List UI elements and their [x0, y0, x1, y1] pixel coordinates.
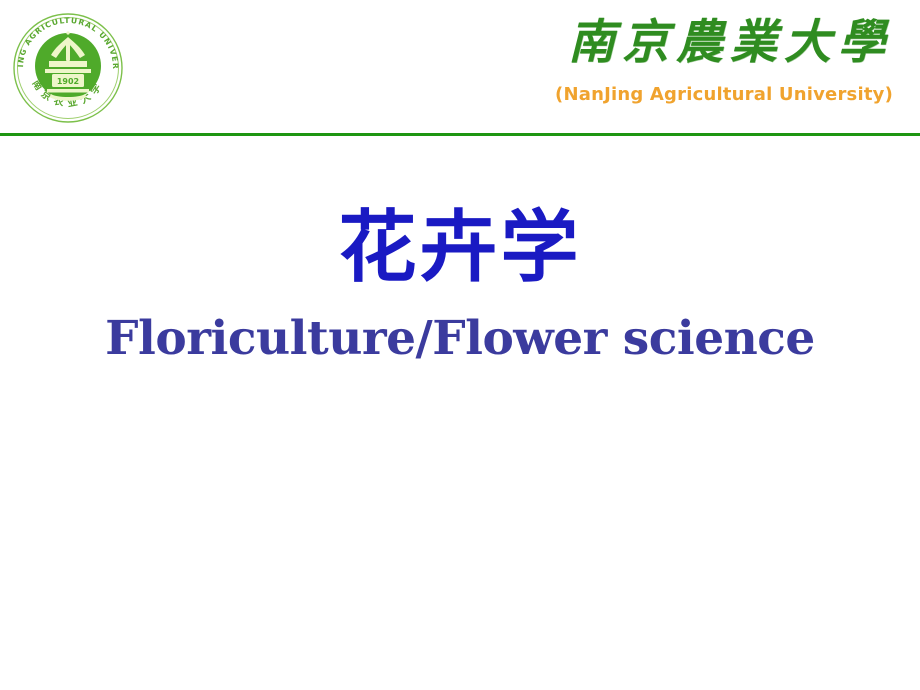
university-name-chinese: 南京農業大學 — [568, 18, 892, 67]
page-title: 花卉学 — [0, 209, 920, 287]
university-name-english: (NanJing Agricultural University) — [555, 84, 893, 105]
header-divider — [0, 133, 920, 136]
svg-text:1902: 1902 — [57, 77, 79, 86]
slide-header: NANJING AGRICULTURAL UNIVERSITY 南京农业大学 — [0, 0, 920, 134]
slide-body: 花卉学 Floriculture/Flower science — [0, 137, 920, 690]
empty-content-area — [0, 397, 920, 690]
university-seal-icon: NANJING AGRICULTURAL UNIVERSITY 南京农业大学 — [11, 11, 125, 125]
slide-canvas: NANJING AGRICULTURAL UNIVERSITY 南京农业大学 — [0, 0, 920, 690]
page-subtitle: Floriculture/Flower science — [0, 315, 920, 362]
